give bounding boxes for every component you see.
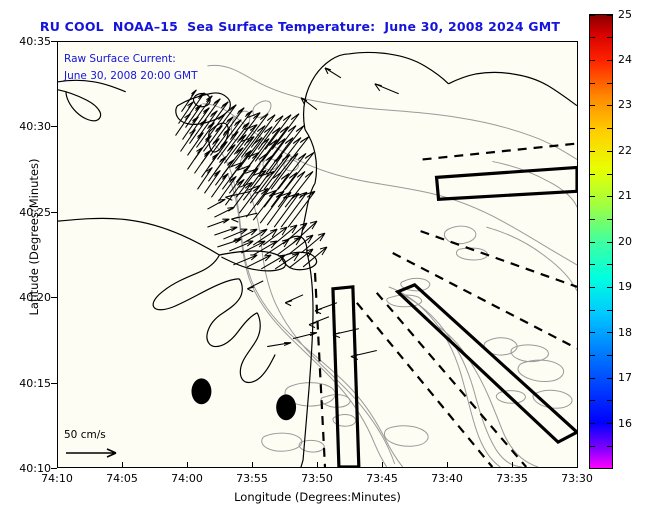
colorbar-tick xyxy=(590,264,595,265)
xtick-mark xyxy=(382,462,383,468)
ytick-mark xyxy=(51,212,57,213)
colorbar-tick xyxy=(607,468,612,469)
colorbar-tick-label: 24 xyxy=(618,53,632,66)
colorbar-tick xyxy=(607,219,612,220)
colorbar-tick-label: 22 xyxy=(618,144,632,157)
colorbar-tick xyxy=(607,264,612,265)
colorbar-tick xyxy=(607,310,612,311)
colorbar-tick xyxy=(590,219,595,220)
colorbar-tick xyxy=(590,60,595,61)
colorbar-tick-label: 19 xyxy=(618,280,632,293)
colorbar-tick xyxy=(590,287,595,288)
ytick-label: 40:10 xyxy=(0,462,51,475)
colorbar-tick xyxy=(590,423,595,424)
colorbar-tick xyxy=(607,37,612,38)
xtick-label: 73:55 xyxy=(222,472,282,485)
station-marker xyxy=(276,394,296,420)
colorbar-tick xyxy=(590,15,595,16)
map-plot-area[interactable]: Raw Surface Current: June 30, 2008 20:00… xyxy=(57,41,578,468)
colorbar-tick-label: 25 xyxy=(618,8,632,21)
colorbar-tick xyxy=(607,332,612,333)
ytick-mark xyxy=(51,126,57,127)
colorbar-tick xyxy=(607,151,612,152)
colorbar-tick xyxy=(590,468,595,469)
colorbar-tick xyxy=(607,287,612,288)
current-annotation-title: Raw Surface Current: xyxy=(64,53,176,65)
xtick-label: 74:05 xyxy=(92,472,152,485)
station-marker xyxy=(191,378,211,404)
ytick-mark xyxy=(51,468,57,469)
colorbar-tick xyxy=(590,37,595,38)
ytick-mark xyxy=(51,297,57,298)
colorbar-tick xyxy=(590,105,595,106)
xtick-mark xyxy=(447,462,448,468)
ytick-mark xyxy=(51,383,57,384)
xtick-mark xyxy=(512,462,513,468)
xtick-mark xyxy=(57,462,58,468)
temperature-colorbar[interactable] xyxy=(589,14,613,469)
scalebar-arrow-icon xyxy=(64,442,134,464)
colorbar-tick xyxy=(590,332,595,333)
ytick-label: 40:20 xyxy=(0,291,51,304)
xtick-label: 73:35 xyxy=(482,472,542,485)
figure-title: RU COOL NOAA–15 Sea Surface Temperature:… xyxy=(0,19,600,34)
colorbar-tick xyxy=(607,355,612,356)
xtick-label: 73:30 xyxy=(547,472,607,485)
colorbar-tick-label: 23 xyxy=(618,98,632,111)
x-axis-label: Longitude (Degrees:Minutes) xyxy=(57,490,578,504)
current-annotation-timestamp: June 30, 2008 20:00 GMT xyxy=(64,70,198,82)
xtick-mark xyxy=(317,462,318,468)
colorbar-tick xyxy=(607,15,612,16)
ytick-label: 40:30 xyxy=(0,120,51,133)
colorbar-tick xyxy=(607,423,612,424)
xtick-mark xyxy=(252,462,253,468)
colorbar-tick xyxy=(607,128,612,129)
colorbar-tick-label: 16 xyxy=(618,417,632,430)
colorbar-tick-label: 18 xyxy=(618,326,632,339)
colorbar-tick xyxy=(590,196,595,197)
colorbar-tick xyxy=(590,242,595,243)
colorbar-tick xyxy=(590,128,595,129)
station-markers xyxy=(191,378,296,420)
colorbar-tick-label: 17 xyxy=(618,371,632,384)
colorbar-tick xyxy=(607,242,612,243)
colorbar-tick xyxy=(590,446,595,447)
colorbar-tick-label: 20 xyxy=(618,235,632,248)
sst-figure: RU COOL NOAA–15 Sea Surface Temperature:… xyxy=(0,0,651,518)
map-graphics xyxy=(58,42,577,467)
xtick-label: 73:40 xyxy=(417,472,477,485)
colorbar-tick xyxy=(607,378,612,379)
colorbar-tick xyxy=(590,310,595,311)
colorbar-tick xyxy=(590,378,595,379)
ytick-mark xyxy=(51,41,57,42)
colorbar-tick xyxy=(607,105,612,106)
colorbar-tick xyxy=(607,174,612,175)
colorbar-tick xyxy=(607,60,612,61)
colorbar-tick xyxy=(590,174,595,175)
xtick-mark xyxy=(187,462,188,468)
ytick-label: 40:35 xyxy=(0,35,51,48)
xtick-label: 74:00 xyxy=(157,472,217,485)
colorbar-tick xyxy=(590,83,595,84)
xtick-mark xyxy=(577,462,578,468)
colorbar-tick xyxy=(590,355,595,356)
colorbar-tick xyxy=(590,151,595,152)
colorbar-tick xyxy=(607,400,612,401)
ytick-label: 40:15 xyxy=(0,377,51,390)
colorbar-tick xyxy=(607,196,612,197)
surface-current-vectors xyxy=(176,68,399,360)
scalebar-label: 50 cm/s xyxy=(64,429,106,441)
xtick-label: 73:50 xyxy=(287,472,347,485)
xtick-label: 73:45 xyxy=(352,472,412,485)
colorbar-tick-label: 21 xyxy=(618,189,632,202)
ytick-label: 40:25 xyxy=(0,206,51,219)
y-axis-label: Latitude (Degrees:Minutes) xyxy=(27,127,41,347)
colorbar-tick xyxy=(607,446,612,447)
colorbar-tick xyxy=(590,400,595,401)
colorbar-tick xyxy=(607,83,612,84)
